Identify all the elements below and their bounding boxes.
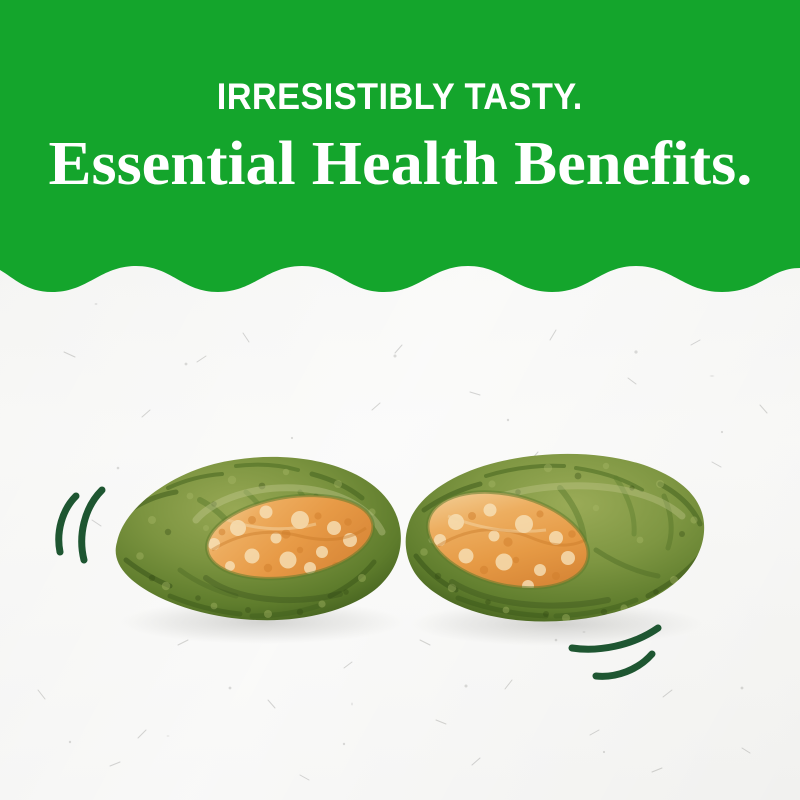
- motion-arc-right-lower: [596, 654, 652, 676]
- motion-arcs-right: [568, 622, 664, 684]
- product-feature-banner: IRRESISTIBLY TASTY. Essential Health Ben…: [0, 0, 800, 800]
- treat-half-left: [116, 457, 401, 620]
- motion-arc-left-inner: [59, 496, 76, 552]
- headline-group: IRRESISTIBLY TASTY. Essential Health Ben…: [0, 0, 800, 270]
- motion-arcs-left: [50, 486, 110, 566]
- treat-half-right: [406, 454, 705, 622]
- product-image-group: [0, 400, 800, 700]
- subheading-text: Essential Health Benefits.: [48, 133, 752, 195]
- motion-arc-right-upper: [572, 628, 658, 649]
- eyebrow-text: IRRESISTIBLY TASTY.: [217, 78, 583, 115]
- motion-arc-left-outer: [82, 490, 102, 560]
